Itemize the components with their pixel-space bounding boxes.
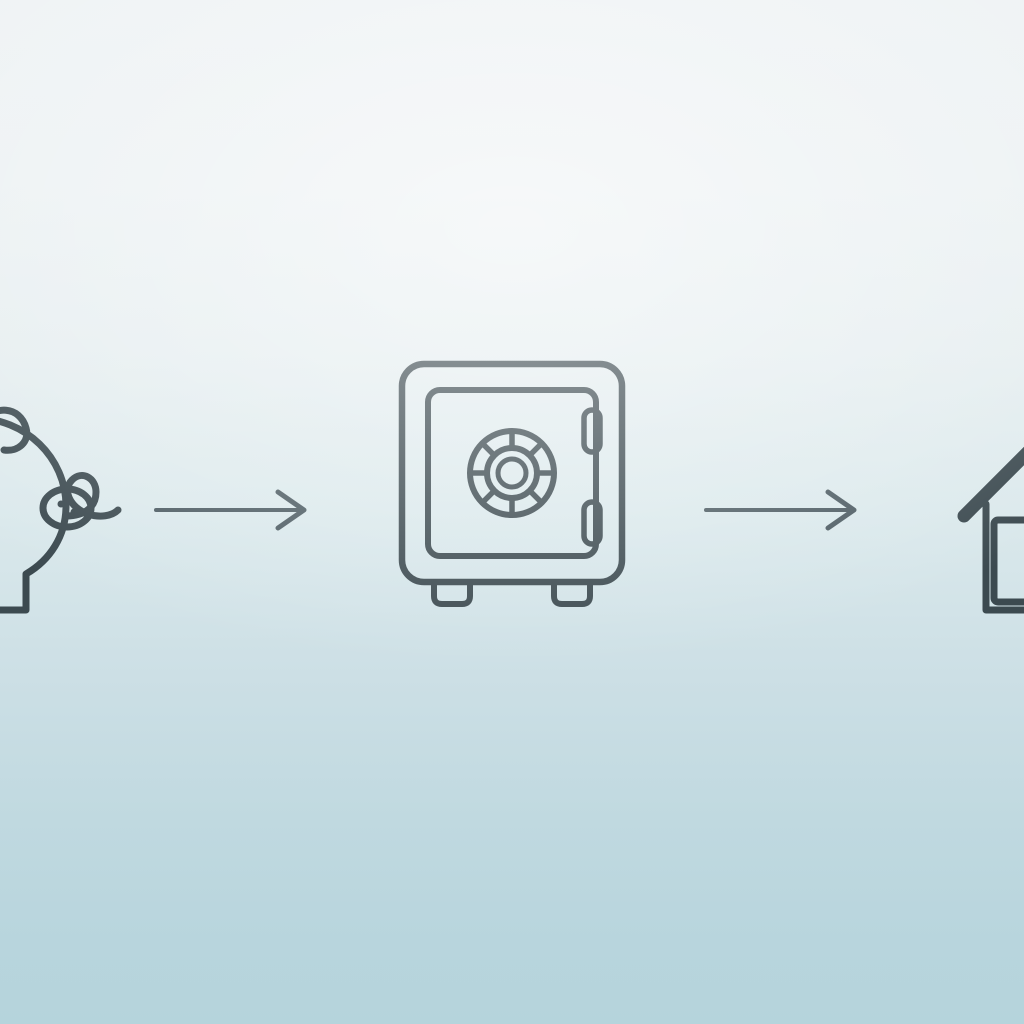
node-irp-safe: IRP (Innividual Retirement Pension) — [388, 356, 636, 608]
diagram-canvas: 会) — [0, 0, 1024, 1024]
node-piggy-bank: 会) — [0, 366, 124, 622]
safe-icon — [388, 356, 636, 608]
piggy-bank-icon — [0, 366, 124, 622]
house-icon — [938, 398, 1024, 628]
diagram-stage: 会) — [0, 0, 1024, 1024]
arrow-right-icon-1 — [152, 486, 317, 534]
arrow-right-icon-2 — [702, 486, 867, 534]
node-investment-house: (Investment — [938, 398, 1024, 628]
